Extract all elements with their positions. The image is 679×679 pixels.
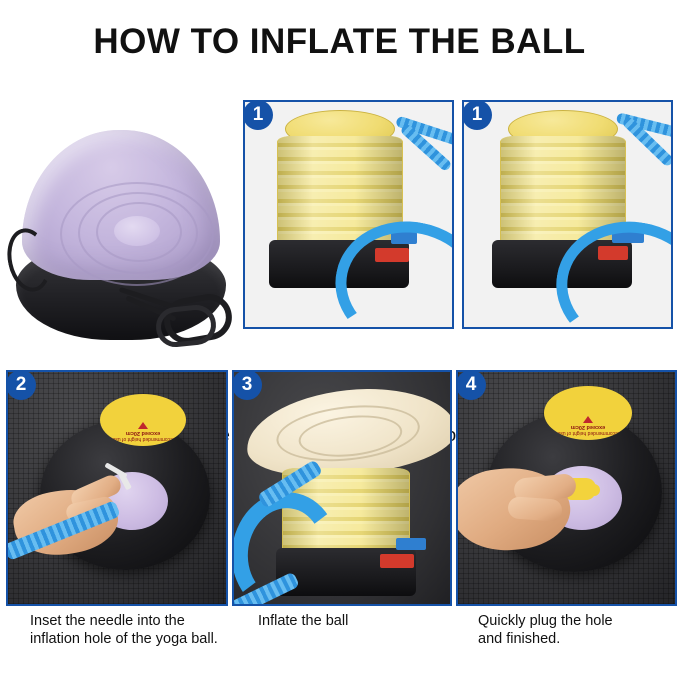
step-badge-4: 4	[456, 370, 486, 400]
step-2-photo: Recommended height of user: exceed 20cm …	[6, 370, 228, 606]
how-to-inflate-infographic: HOW TO INFLATE THE BALL	[0, 0, 679, 679]
step-3-photo: 3	[232, 370, 452, 606]
warning-triangle-icon-2	[583, 416, 593, 423]
bosu-ball-illustration	[6, 100, 236, 350]
step-4-caption: Quickly plug the hole and finished.	[478, 612, 668, 648]
step-1-photo-b: 1	[462, 100, 673, 329]
step-1-photo-a: 1	[243, 100, 454, 329]
step-2-caption: Inset the needle into the inflation hole…	[30, 612, 230, 648]
thumb-2	[507, 496, 562, 522]
step-2-caption-line2: inflation hole of the yoga ball.	[30, 630, 230, 648]
page-title: HOW TO INFLATE THE BALL	[0, 22, 679, 62]
step-2-caption-line1: Inset the needle into the	[30, 612, 230, 630]
bosu-dome	[22, 130, 220, 280]
warning-triangle-icon	[138, 422, 148, 429]
step-4-photo: Recommended height of user: exceed 20cm …	[456, 370, 677, 606]
step-4-caption-line2: and finished.	[478, 630, 668, 648]
step-badge-1: 1	[243, 100, 273, 130]
step-3-caption: Inflate the ball	[258, 612, 448, 630]
blue-nozzle-3	[396, 538, 426, 550]
step-badge-1b: 1	[462, 100, 492, 130]
dome-center	[114, 216, 160, 246]
red-nozzle-3	[380, 554, 414, 568]
step-3-caption-line1: Inflate the ball	[258, 612, 448, 630]
ball-warning-label-2: Recommended height of user: exceed 20cm	[544, 386, 632, 440]
bottom-section: Recommended height of user: exceed 20cm …	[0, 370, 679, 679]
step-4-caption-line1: Quickly plug the hole	[478, 612, 668, 630]
yellow-plug-tab	[578, 484, 600, 496]
top-section: 1 1 Connect the hose to the BLUE nozzle …	[0, 92, 679, 367]
step-badge-2: 2	[6, 370, 36, 400]
ball-warning-label: Recommended height of user: exceed 20cm	[100, 394, 186, 446]
step-badge-3: 3	[232, 370, 262, 400]
resistance-handle-2	[154, 303, 218, 349]
